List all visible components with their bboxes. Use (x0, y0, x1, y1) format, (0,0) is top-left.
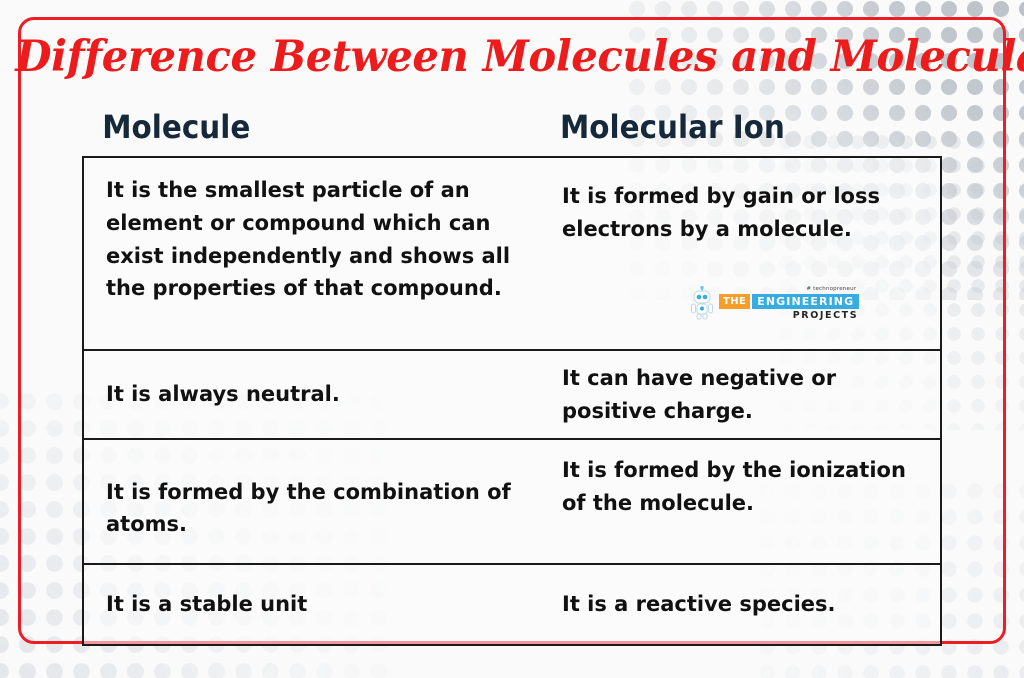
logo-bars: THE ENGINEERING (719, 294, 859, 309)
column-headers: Molecule Molecular Ion (82, 108, 942, 154)
table-row: It is formed by the combination of atoms… (84, 440, 940, 565)
page-title: Difference Between Molecules and Molecul… (15, 35, 1008, 80)
table-cell-text: It is a stable unit (106, 588, 307, 621)
table-cell-text: It is a reactive species. (562, 588, 836, 621)
logo-word-engineering: ENGINEERING (752, 294, 859, 309)
column-header-molecule: Molecule (82, 108, 522, 154)
table-cell-text: It can have negative or positive charge. (562, 362, 930, 428)
table-cell-molecule: It is always neutral. (84, 351, 562, 438)
table-cell-text: It is formed by the ionization of the mo… (562, 454, 930, 520)
logo-wordmark: # technopreneur THE ENGINEERING PROJECTS (719, 285, 859, 322)
table-cell-molecular-ion: It is a reactive species. (562, 565, 940, 644)
table-cell-text: It is the smallest particle of an elemen… (106, 174, 548, 305)
logo-word-projects: PROJECTS (793, 310, 858, 322)
table-cell-molecular-ion: It can have negative or positive charge. (562, 351, 940, 438)
table-cell-molecule: It is the smallest particle of an elemen… (84, 158, 562, 349)
table-row: It is the smallest particle of an elemen… (84, 158, 940, 351)
logo-tagline: # technopreneur (806, 285, 856, 293)
table-cell-text: It is always neutral. (106, 378, 340, 411)
robot-icon (689, 286, 715, 320)
comparison-table: It is the smallest particle of an elemen… (82, 156, 942, 646)
table-cell-text: It is formed by the combination of atoms… (106, 476, 548, 542)
table-row: It is a stable unit It is a reactive spe… (84, 565, 940, 644)
watermark-logo: # technopreneur THE ENGINEERING PROJECTS (689, 280, 841, 326)
infographic-page: Difference Between Molecules and Molecul… (0, 0, 1024, 678)
logo-word-the: THE (719, 294, 750, 309)
table-cell-molecule: It is formed by the combination of atoms… (84, 440, 562, 563)
table-cell-molecule: It is a stable unit (84, 565, 562, 644)
table-row: It is always neutral. It can have negati… (84, 351, 940, 440)
column-header-molecular-ion: Molecular Ion (560, 108, 911, 154)
table-cell-text: It is formed by gain or loss electrons b… (562, 180, 930, 246)
table-cell-molecular-ion: It is formed by the ionization of the mo… (562, 440, 940, 563)
